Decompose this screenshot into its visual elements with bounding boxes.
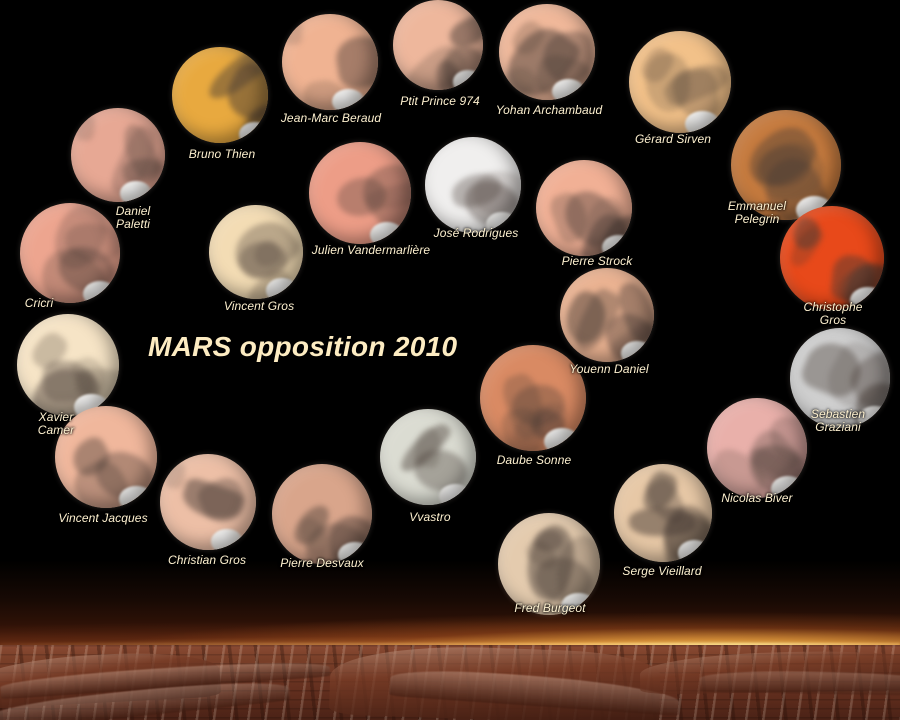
limb-shading <box>172 47 268 143</box>
mars-disk[interactable] <box>536 160 632 256</box>
observer-name-label: Daube Sonne <box>497 454 572 467</box>
mars-opposition-poster: Bruno ThienJean-Marc BeraudPtit Prince 9… <box>0 0 900 720</box>
limb-shading <box>71 108 165 202</box>
mars-disk[interactable] <box>17 314 119 416</box>
limb-shading <box>480 345 586 451</box>
observer-name-label: Youenn Daniel <box>569 363 648 376</box>
page-title: MARS opposition 2010 <box>148 331 457 363</box>
limb-shading <box>560 268 654 362</box>
observer-name-label: Julien Vandermarlière <box>312 244 430 257</box>
limb-shading <box>707 398 807 498</box>
limb-shading <box>55 406 157 508</box>
limb-shading <box>309 142 411 244</box>
observer-name-label: Daniel Paletti <box>116 205 151 231</box>
observer-name-label: Yohan Archambaud <box>496 104 603 117</box>
mars-disk[interactable] <box>560 268 654 362</box>
observer-name-label: Vvastro <box>409 511 450 524</box>
observer-name-label: Vincent Gros <box>224 300 294 313</box>
limb-shading <box>209 205 303 299</box>
observer-name-label: Bruno Thien <box>189 148 255 161</box>
observer-name-label: Vincent Jacques <box>58 512 147 525</box>
limb-shading <box>380 409 476 505</box>
mars-disk[interactable] <box>209 205 303 299</box>
mars-disk[interactable] <box>707 398 807 498</box>
limb-shading <box>425 137 521 233</box>
mars-disk[interactable] <box>614 464 712 562</box>
observer-name-label: Gérard Sirven <box>635 133 711 146</box>
observer-name-label: Ptit Prince 974 <box>400 95 480 108</box>
mars-disk[interactable] <box>20 203 120 303</box>
mars-disk[interactable] <box>309 142 411 244</box>
limb-shading <box>17 314 119 416</box>
limb-shading <box>790 328 890 428</box>
limb-shading <box>614 464 712 562</box>
limb-shading <box>780 206 884 310</box>
limb-shading <box>282 14 378 110</box>
mars-disk[interactable] <box>790 328 890 428</box>
mars-disk[interactable] <box>629 31 731 133</box>
mars-disk[interactable] <box>780 206 884 310</box>
limb-shading <box>393 0 483 90</box>
limb-shading <box>731 110 841 220</box>
limb-shading <box>629 31 731 133</box>
observer-name-label: Cricri <box>25 297 54 310</box>
mars-disk[interactable] <box>160 454 256 550</box>
limb-shading <box>272 464 372 564</box>
observer-name-label: Jean-Marc Beraud <box>281 112 381 125</box>
limb-shading <box>160 454 256 550</box>
mars-disk[interactable] <box>731 110 841 220</box>
mars-disk[interactable] <box>499 4 595 100</box>
mars-disk[interactable] <box>480 345 586 451</box>
mars-disk[interactable] <box>282 14 378 110</box>
mars-disk[interactable] <box>172 47 268 143</box>
mars-disk[interactable] <box>272 464 372 564</box>
limb-shading <box>536 160 632 256</box>
observer-name-label: Pierre Strock <box>562 255 633 268</box>
limb-shading <box>499 4 595 100</box>
mars-disk[interactable] <box>55 406 157 508</box>
limb-shading <box>20 203 120 303</box>
mars-disk[interactable] <box>380 409 476 505</box>
mars-disk[interactable] <box>393 0 483 90</box>
mars-disk[interactable] <box>425 137 521 233</box>
mars-disk[interactable] <box>71 108 165 202</box>
